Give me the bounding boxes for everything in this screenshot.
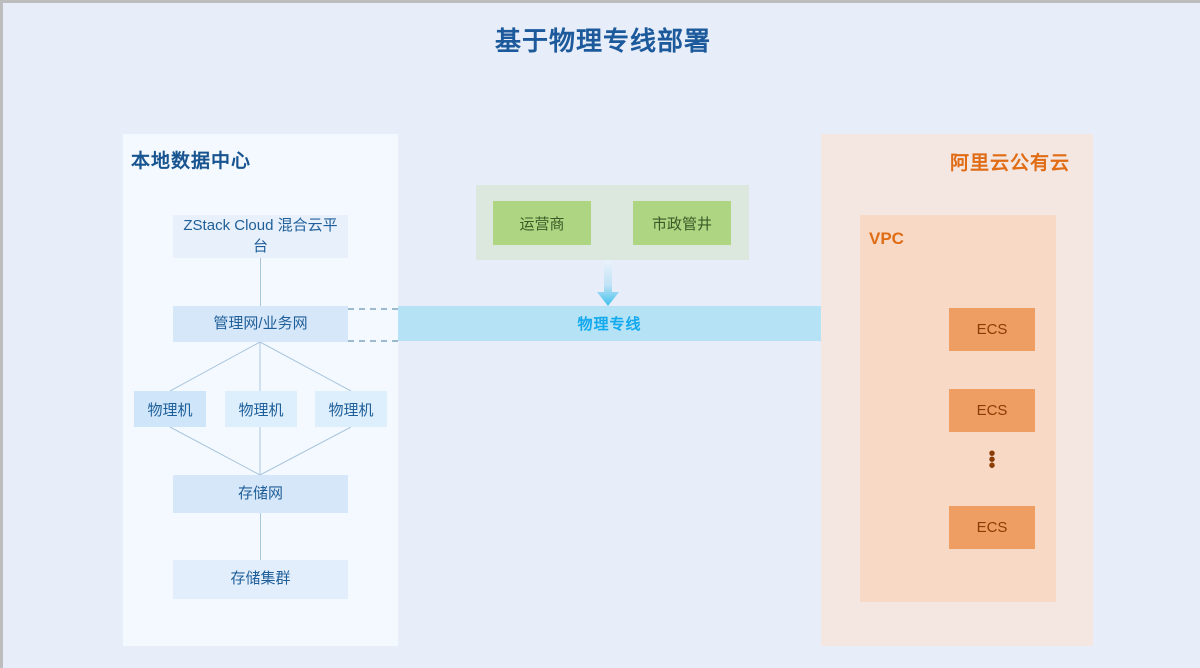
physical-dedicated-line-band: 物理专线 — [398, 306, 821, 341]
ecs-vertical-ellipsis-icon: ••• — [949, 451, 1035, 469]
connector-platform-to-network — [260, 258, 261, 306]
storage-network-box[interactable]: 存储网 — [173, 475, 348, 513]
connector-hosts-to-storage-network — [123, 427, 398, 477]
local-datacenter-title: 本地数据中心 — [131, 146, 251, 173]
vpc-label: VPC — [869, 229, 904, 249]
dashed-link-left-top — [348, 308, 398, 310]
carrier-operator-box[interactable]: 运营商 — [493, 201, 591, 245]
municipal-pipe-well-box[interactable]: 市政管井 — [633, 201, 731, 245]
ecs-instance-box-3[interactable]: ECS — [949, 506, 1035, 549]
aliyun-public-cloud-title: 阿里云公有云 — [950, 148, 1070, 175]
ecs-instance-box-1[interactable]: ECS — [949, 308, 1035, 351]
connector-network-to-hosts — [123, 339, 398, 395]
page-title: 基于物理专线部署 — [3, 21, 1200, 58]
physical-host-box-1[interactable]: 物理机 — [134, 391, 206, 427]
dashed-link-left-bottom — [348, 340, 398, 342]
physical-dedicated-line-label: 物理专线 — [577, 313, 641, 334]
management-business-network-box[interactable]: 管理网/业务网 — [173, 306, 348, 342]
connector-storage-network-to-cluster — [260, 513, 261, 560]
ecs-instance-box-2[interactable]: ECS — [949, 389, 1035, 432]
physical-host-box-2[interactable]: 物理机 — [225, 391, 297, 427]
diagram-canvas: 基于物理专线部署 本地数据中心 ZStack Cloud 混合云平台 管理网/业… — [0, 0, 1200, 668]
storage-cluster-box[interactable]: 存储集群 — [173, 560, 348, 599]
down-arrow-icon — [597, 260, 619, 308]
physical-host-box-3[interactable]: 物理机 — [315, 391, 387, 427]
zstack-cloud-platform-box[interactable]: ZStack Cloud 混合云平台 — [173, 215, 348, 258]
